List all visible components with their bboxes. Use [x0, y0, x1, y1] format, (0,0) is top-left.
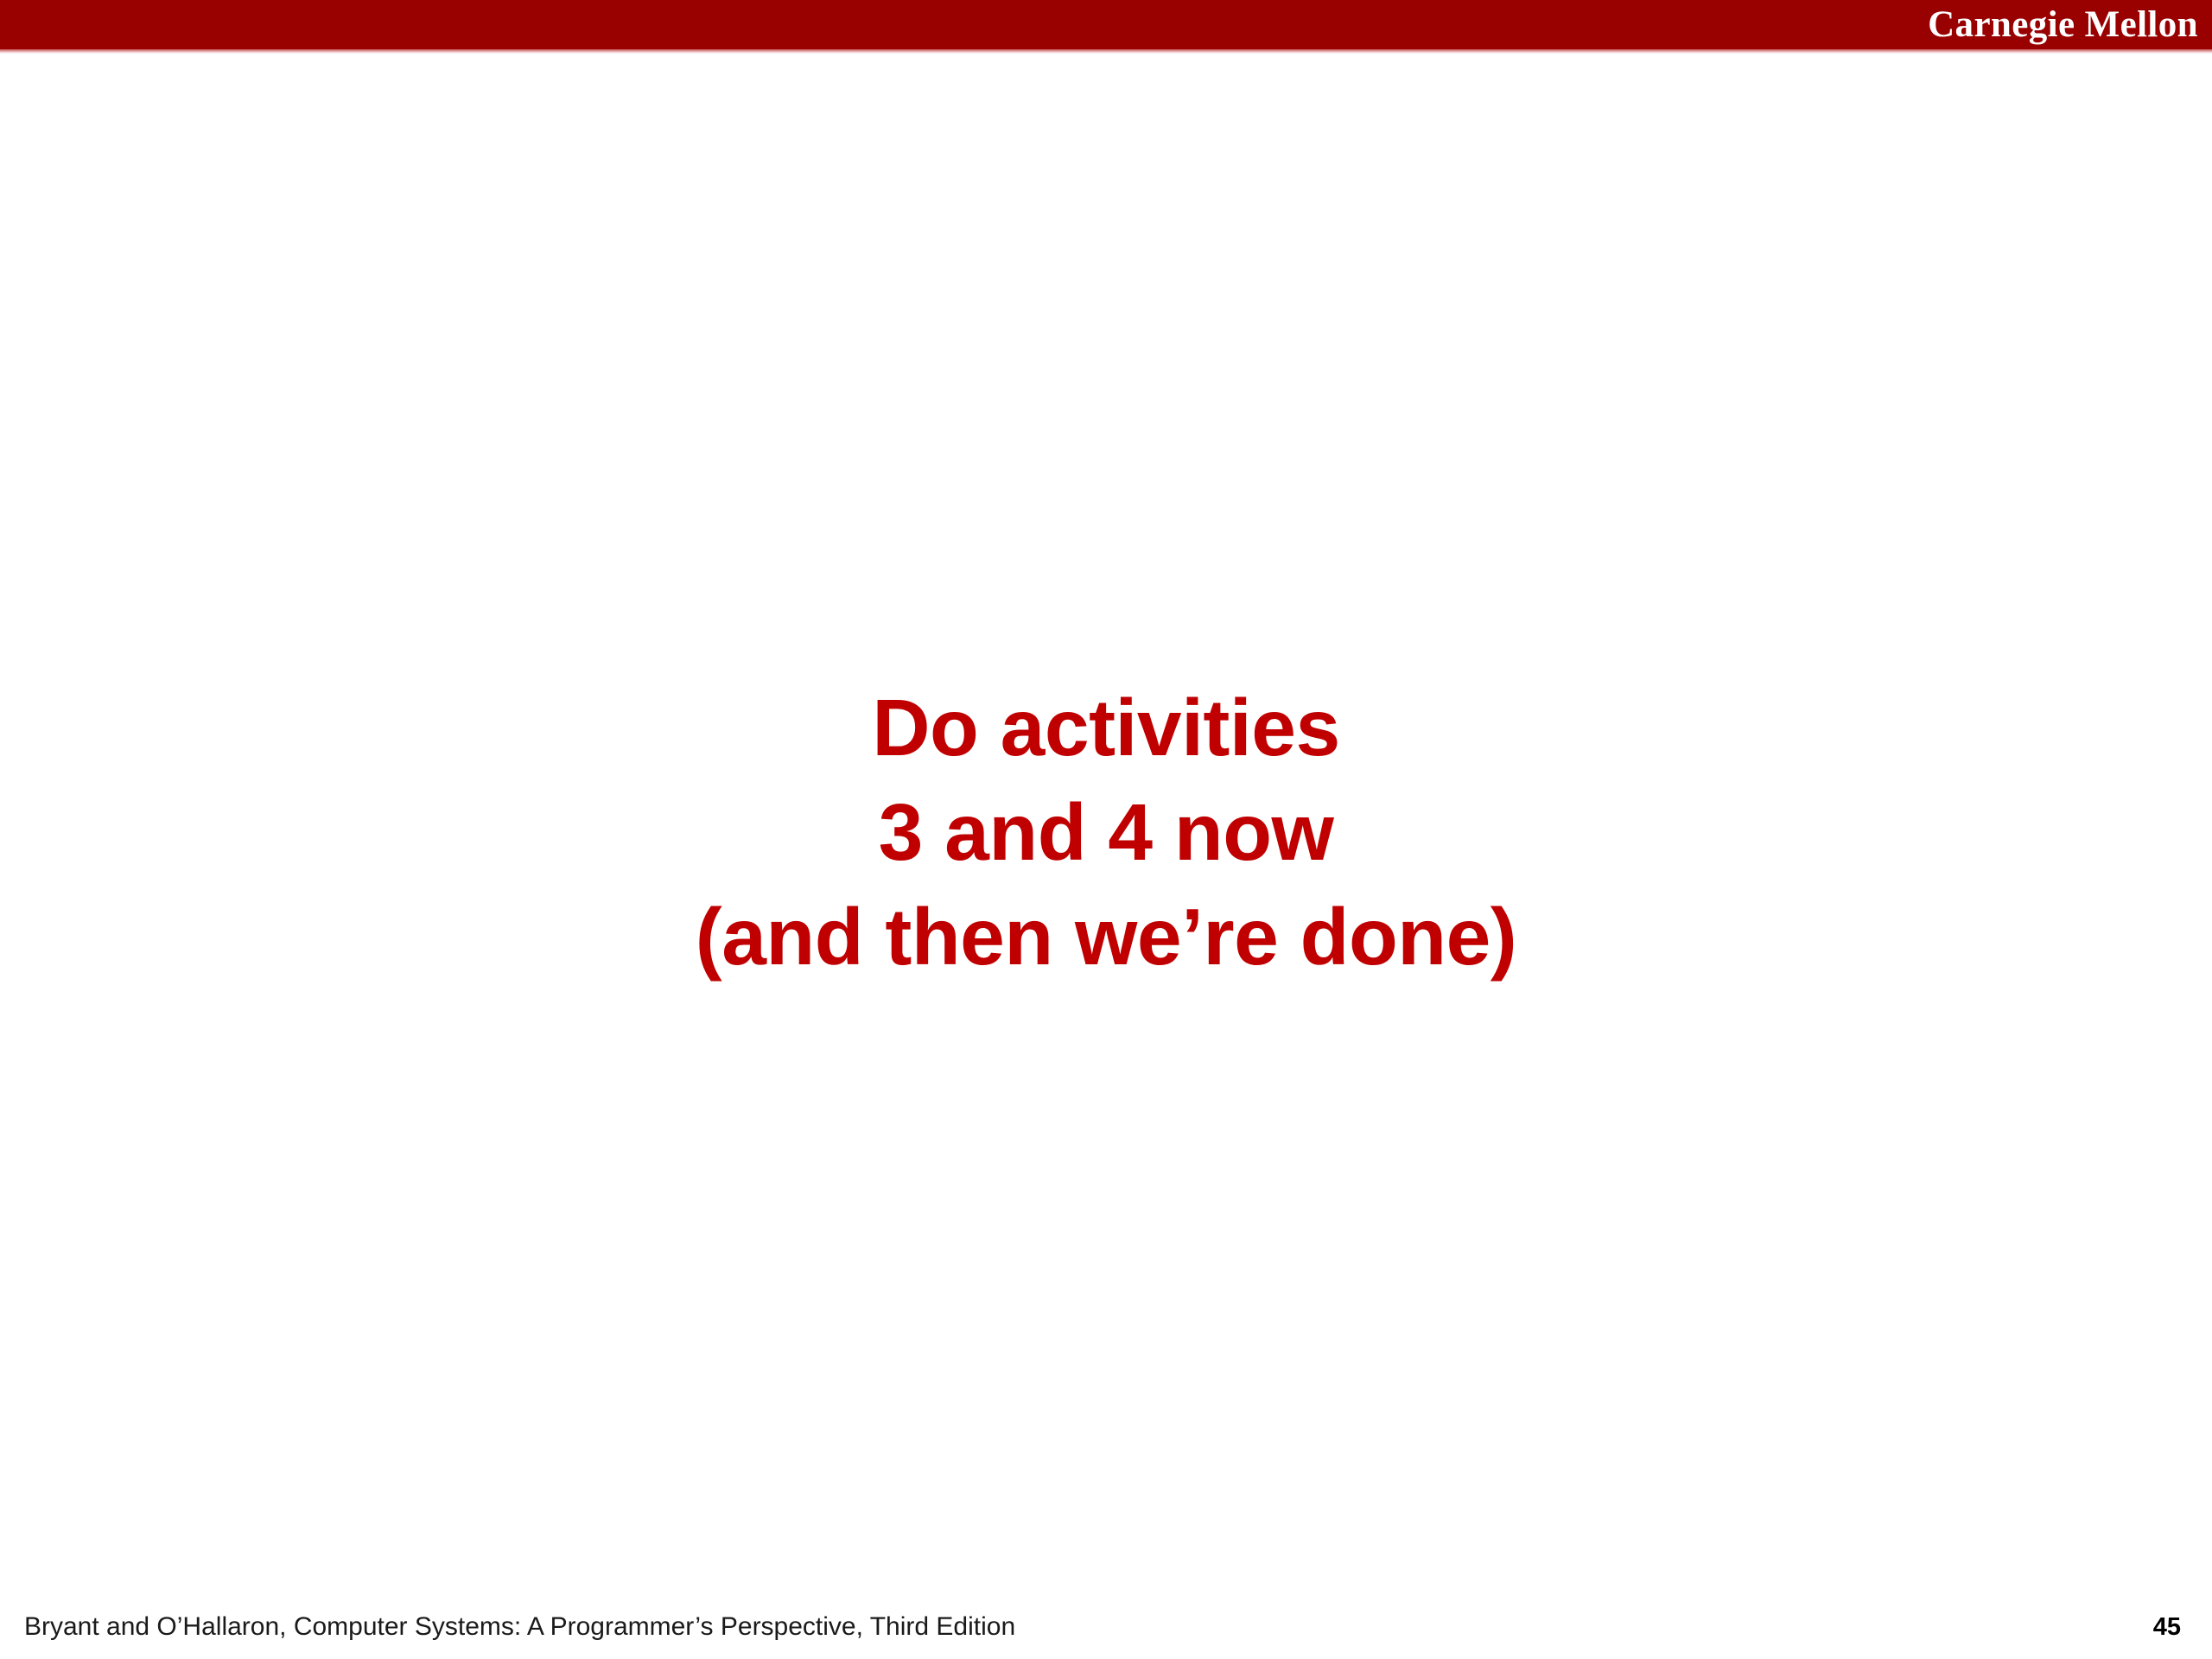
slide-canvas: Carnegie Mellon Do activities 3 and 4 no…: [0, 0, 2212, 1659]
header-underline-accent: [0, 49, 2212, 54]
footer-citation: Bryant and O’Hallaron, Computer Systems:…: [24, 1611, 1015, 1643]
main-message-block: Do activities 3 and 4 now (and then we’r…: [0, 676, 2212, 989]
main-message-line-2: 3 and 4 now: [0, 780, 2212, 885]
carnegie-mellon-wordmark: Carnegie Mellon: [1928, 0, 2198, 49]
main-message-line-3: (and then we’re done): [0, 885, 2212, 989]
main-message-line-1: Do activities: [0, 676, 2212, 780]
header-band: [0, 0, 2212, 49]
slide-page-number: 45: [2153, 1611, 2181, 1643]
